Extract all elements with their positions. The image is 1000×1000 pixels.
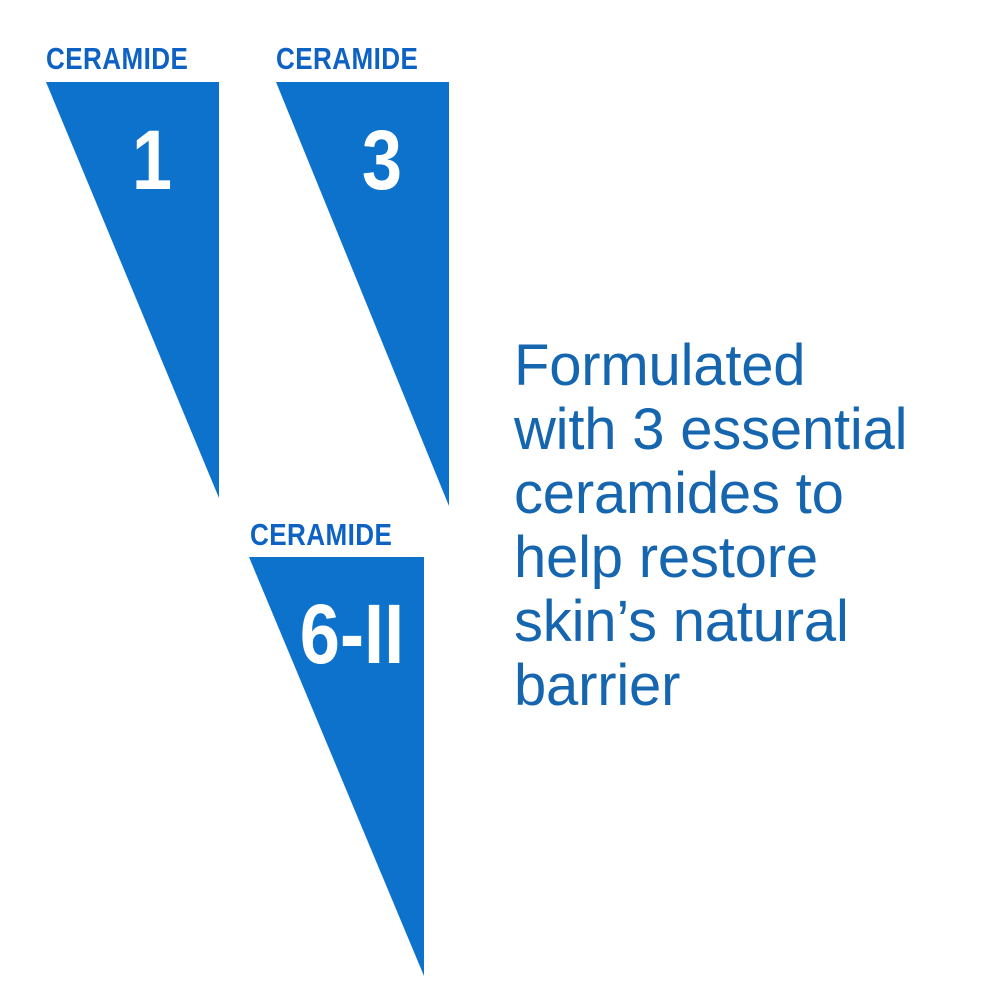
copy-line: Formulated	[514, 334, 954, 398]
copy-line: with 3 essential	[514, 398, 954, 462]
ceramide-infographic: CERAMIDE1CERAMIDE3CERAMIDE6-II Formulate…	[0, 0, 1000, 1000]
ceramide-number: 3	[341, 118, 424, 202]
copy-line: help restore	[514, 526, 954, 590]
copy-line: ceramides to	[514, 462, 954, 526]
copy-line: skin’s natural	[514, 590, 954, 654]
ceramide-label: CERAMIDE	[250, 519, 392, 550]
copy-line: barrier	[514, 654, 954, 718]
ceramide-label: CERAMIDE	[46, 43, 188, 74]
ceramide-number: 1	[111, 118, 194, 202]
ceramide-number: 6-II	[292, 592, 412, 676]
ceramide-label: CERAMIDE	[276, 43, 418, 74]
marketing-copy-block: Formulatedwith 3 essentialceramides tohe…	[514, 334, 954, 718]
